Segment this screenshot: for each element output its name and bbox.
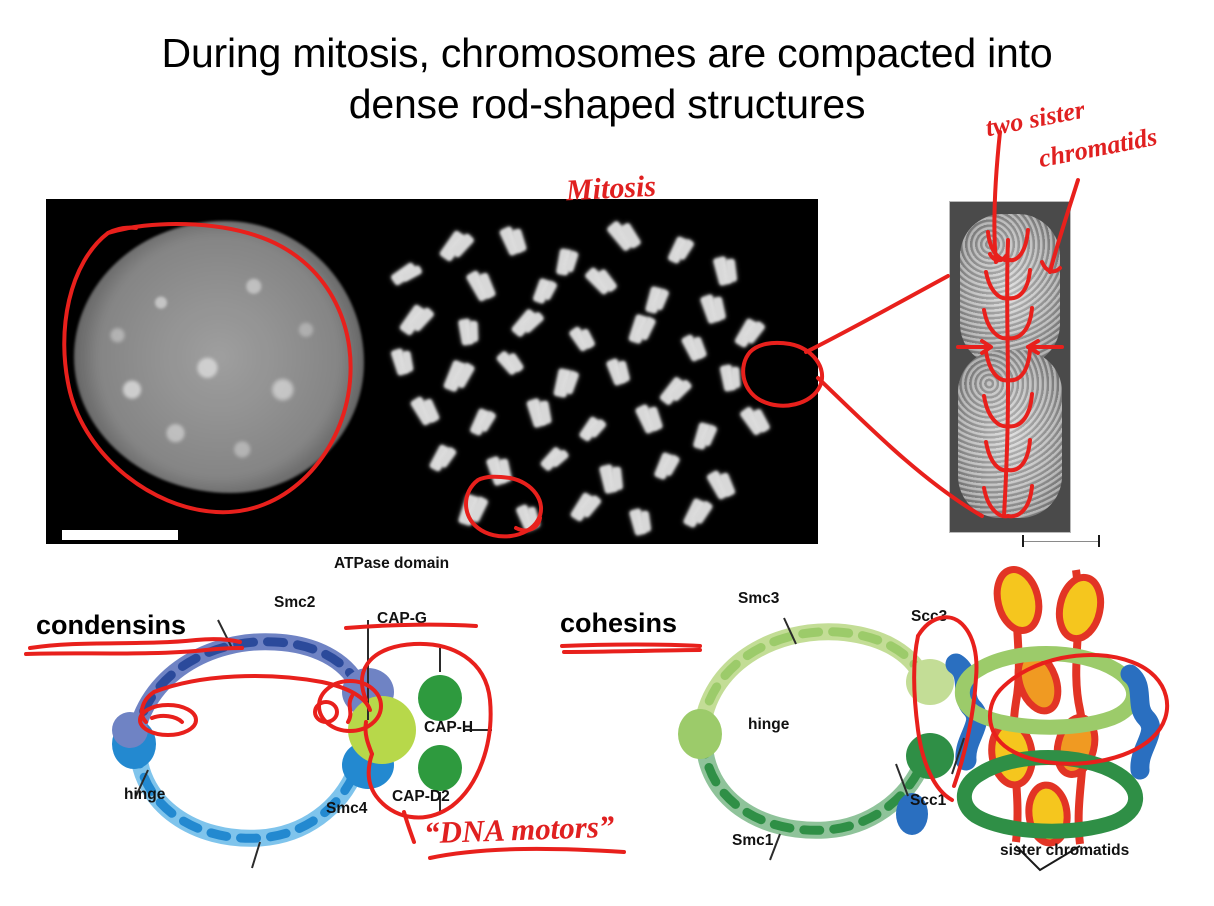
chromosome-sister — [725, 258, 738, 282]
title-line-1: During mitosis, chromosomes are compacte… — [162, 30, 1053, 76]
cap-g-subunit — [418, 675, 462, 721]
label-sister-chromatids: sister chromatids — [1000, 842, 1129, 860]
sem-mitotic-chromosome — [949, 201, 1071, 533]
label-smc1: Smc1 — [732, 832, 773, 850]
sem-scale-ruler — [1022, 535, 1100, 547]
nucleosome-stack — [988, 565, 1106, 845]
ink-leader-upper — [806, 276, 948, 352]
smc1-coiled-coil — [704, 738, 922, 830]
smc-complex-diagrams: condensins — [0, 560, 1214, 906]
page-title: During mitosis, chromosomes are compacte… — [0, 28, 1214, 130]
slide-canvas: During mitosis, chromosomes are compacte… — [0, 0, 1214, 906]
smc1-head — [906, 733, 954, 779]
cap-h-subunit — [348, 696, 416, 764]
label-cap-g: CAP-G — [377, 610, 427, 628]
label-cap-d2: CAP-D2 — [392, 788, 450, 806]
sem-chromatid-lower — [958, 350, 1062, 518]
interphase-nucleus-image — [74, 221, 364, 493]
label-smc2: Smc2 — [274, 594, 315, 612]
metaphase-chromosome-spread: (function(){ var host=document.currentSc… — [386, 209, 816, 539]
label-scc3: Scc3 — [911, 608, 947, 626]
chromosome-sister — [469, 321, 479, 342]
scale-bar — [62, 530, 178, 540]
label-smc3: Smc3 — [738, 590, 779, 608]
cap-d2-subunit — [418, 745, 462, 791]
label-smc4: Smc4 — [326, 800, 367, 818]
label-atpase-domain: ATPase domain — [334, 555, 449, 573]
label-hinge-cohesin: hinge — [748, 716, 789, 734]
label-cap-h: CAP-H — [424, 719, 473, 737]
cohesin-scc1-right — [1130, 674, 1151, 770]
smc2-coiled-coil — [135, 642, 358, 740]
sister-chromatid-fibers — [962, 565, 1150, 845]
smc4-coiled-coil — [138, 748, 356, 838]
chromosome-sister — [640, 510, 652, 532]
chromosome-sister — [611, 467, 623, 491]
label-hinge-condensin: hinge — [124, 786, 165, 804]
condensin-diagram — [100, 580, 620, 880]
title-line-2: dense rod-shaped structures — [0, 79, 1214, 130]
label-scc1: Scc1 — [910, 792, 946, 810]
chromosome-sister — [730, 367, 740, 389]
cohesin-diagram — [660, 578, 1214, 898]
sem-chromatid-upper — [960, 214, 1060, 366]
smc3-coiled-coil — [702, 632, 922, 730]
micrograph-strip: (function(){ var host=document.currentSc… — [46, 199, 818, 544]
cohesin-hinge — [678, 709, 722, 759]
